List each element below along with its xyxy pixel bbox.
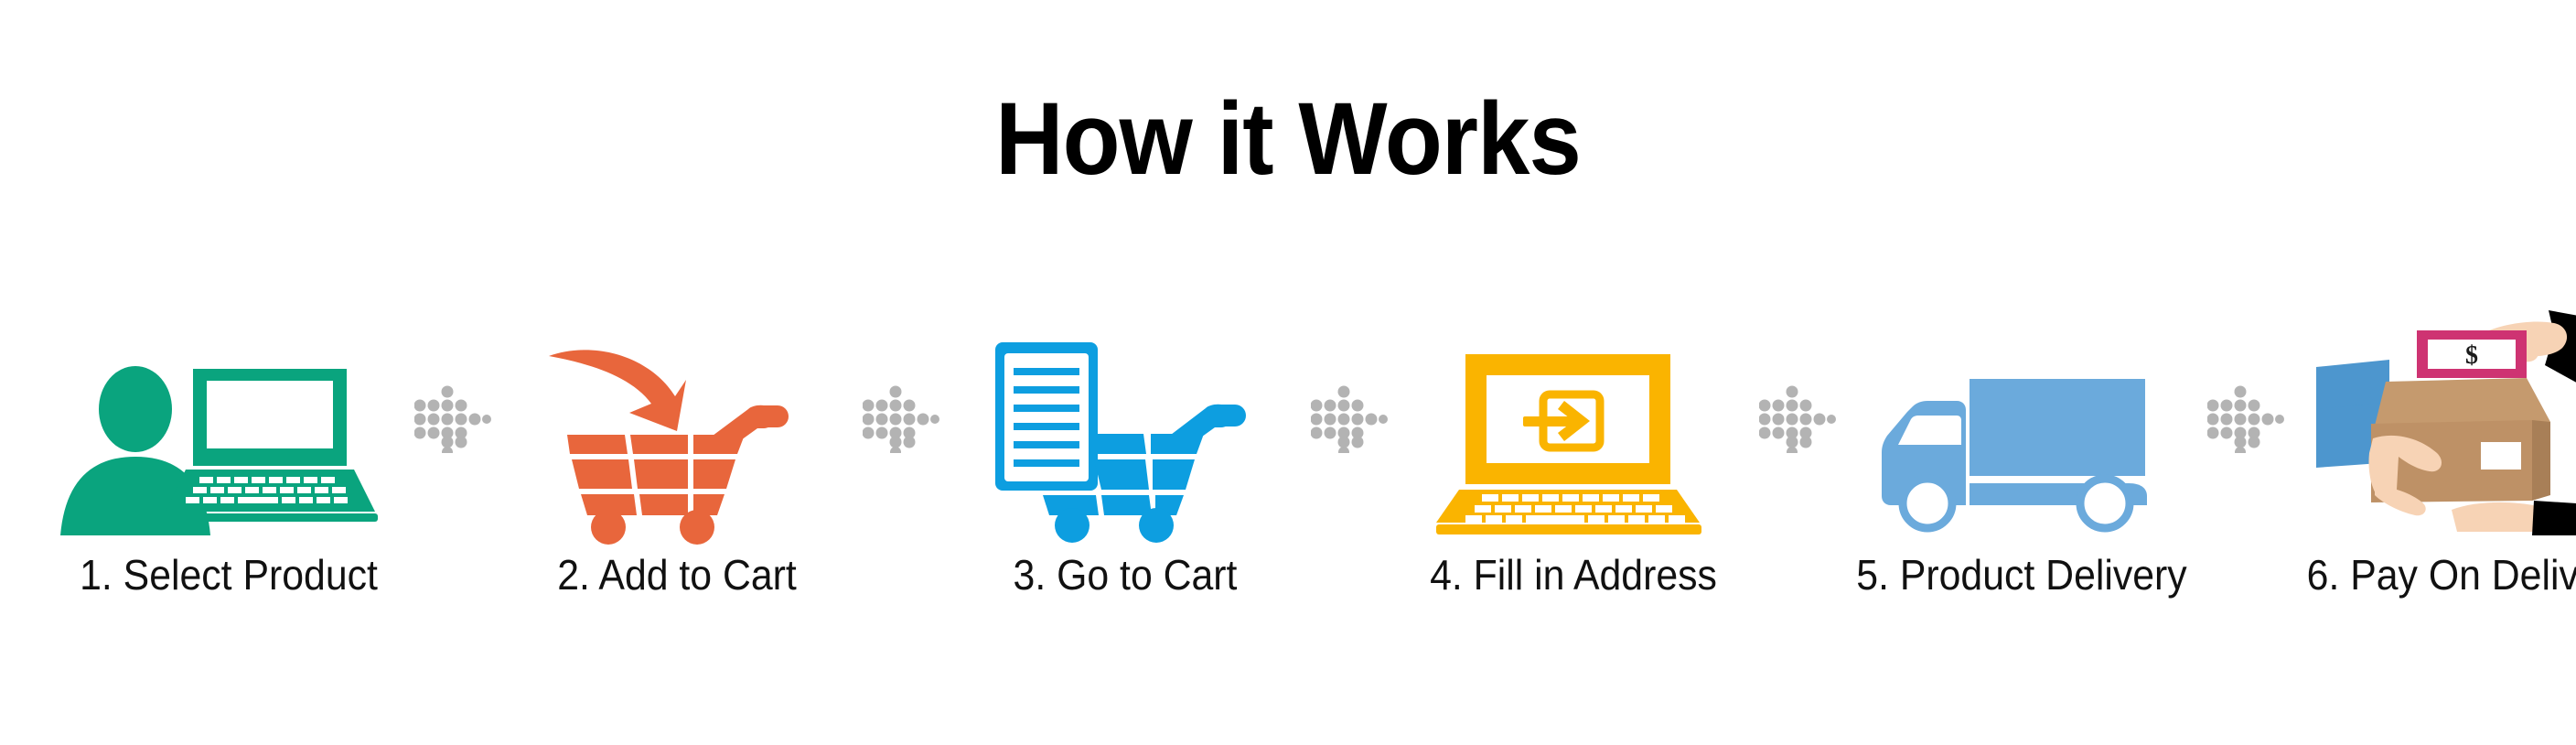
steps-strip: 1. Select Product bbox=[55, 302, 2525, 632]
step-3-go-to-cart[interactable]: 3. Go to Cart bbox=[951, 302, 1299, 632]
dot-arrow-right-icon bbox=[2207, 385, 2284, 453]
separator-2 bbox=[851, 302, 951, 535]
separator-1 bbox=[402, 302, 503, 535]
step-2-label: 2. Add to Cart bbox=[489, 550, 864, 599]
step-2-artwork bbox=[503, 302, 851, 535]
dot-arrow-right-icon bbox=[414, 385, 491, 453]
step-1-label: 1. Select Product bbox=[41, 550, 415, 599]
step-6-pay-on-delivery[interactable]: $ bbox=[2296, 302, 2576, 632]
step-5-product-delivery[interactable]: 5. Product Delivery bbox=[1848, 302, 2195, 632]
step-1-artwork bbox=[55, 302, 402, 535]
page-title: How it Works bbox=[103, 88, 2474, 190]
dot-arrow-right-icon bbox=[1759, 385, 1836, 453]
separator-5 bbox=[2195, 302, 2296, 535]
dot-arrow-right-icon bbox=[1311, 385, 1388, 453]
cart-with-arrow-icon bbox=[540, 343, 814, 535]
step-4-fill-in-address[interactable]: 4. Fill in Address bbox=[1400, 302, 1747, 632]
step-3-artwork bbox=[951, 302, 1299, 535]
how-it-works-infographic: How it Works bbox=[0, 0, 2576, 745]
separator-3 bbox=[1299, 302, 1400, 535]
laptop-login-icon bbox=[1436, 352, 1711, 535]
step-5-label: 5. Product Delivery bbox=[1834, 550, 2208, 599]
step-2-add-to-cart[interactable]: 2. Add to Cart bbox=[503, 302, 851, 632]
step-1-select-product[interactable]: 1. Select Product bbox=[55, 302, 402, 632]
step-6-artwork: $ bbox=[2296, 302, 2576, 535]
step-3-label: 3. Go to Cart bbox=[938, 550, 1312, 599]
delivery-truck-icon bbox=[1880, 366, 2163, 535]
person-with-laptop-icon bbox=[78, 362, 380, 535]
hands-box-money-icon: $ bbox=[2314, 307, 2576, 535]
step-6-label: 6. Pay On Delivery bbox=[2282, 550, 2576, 599]
separator-4 bbox=[1747, 302, 1848, 535]
dot-arrow-right-icon bbox=[863, 385, 939, 453]
step-4-label: 4. Fill in Address bbox=[1386, 550, 1760, 599]
document-with-cart-icon bbox=[988, 339, 1262, 535]
step-5-artwork bbox=[1848, 302, 2195, 535]
money-dollar-symbol: $ bbox=[2465, 341, 2478, 370]
step-4-artwork bbox=[1400, 302, 1747, 535]
